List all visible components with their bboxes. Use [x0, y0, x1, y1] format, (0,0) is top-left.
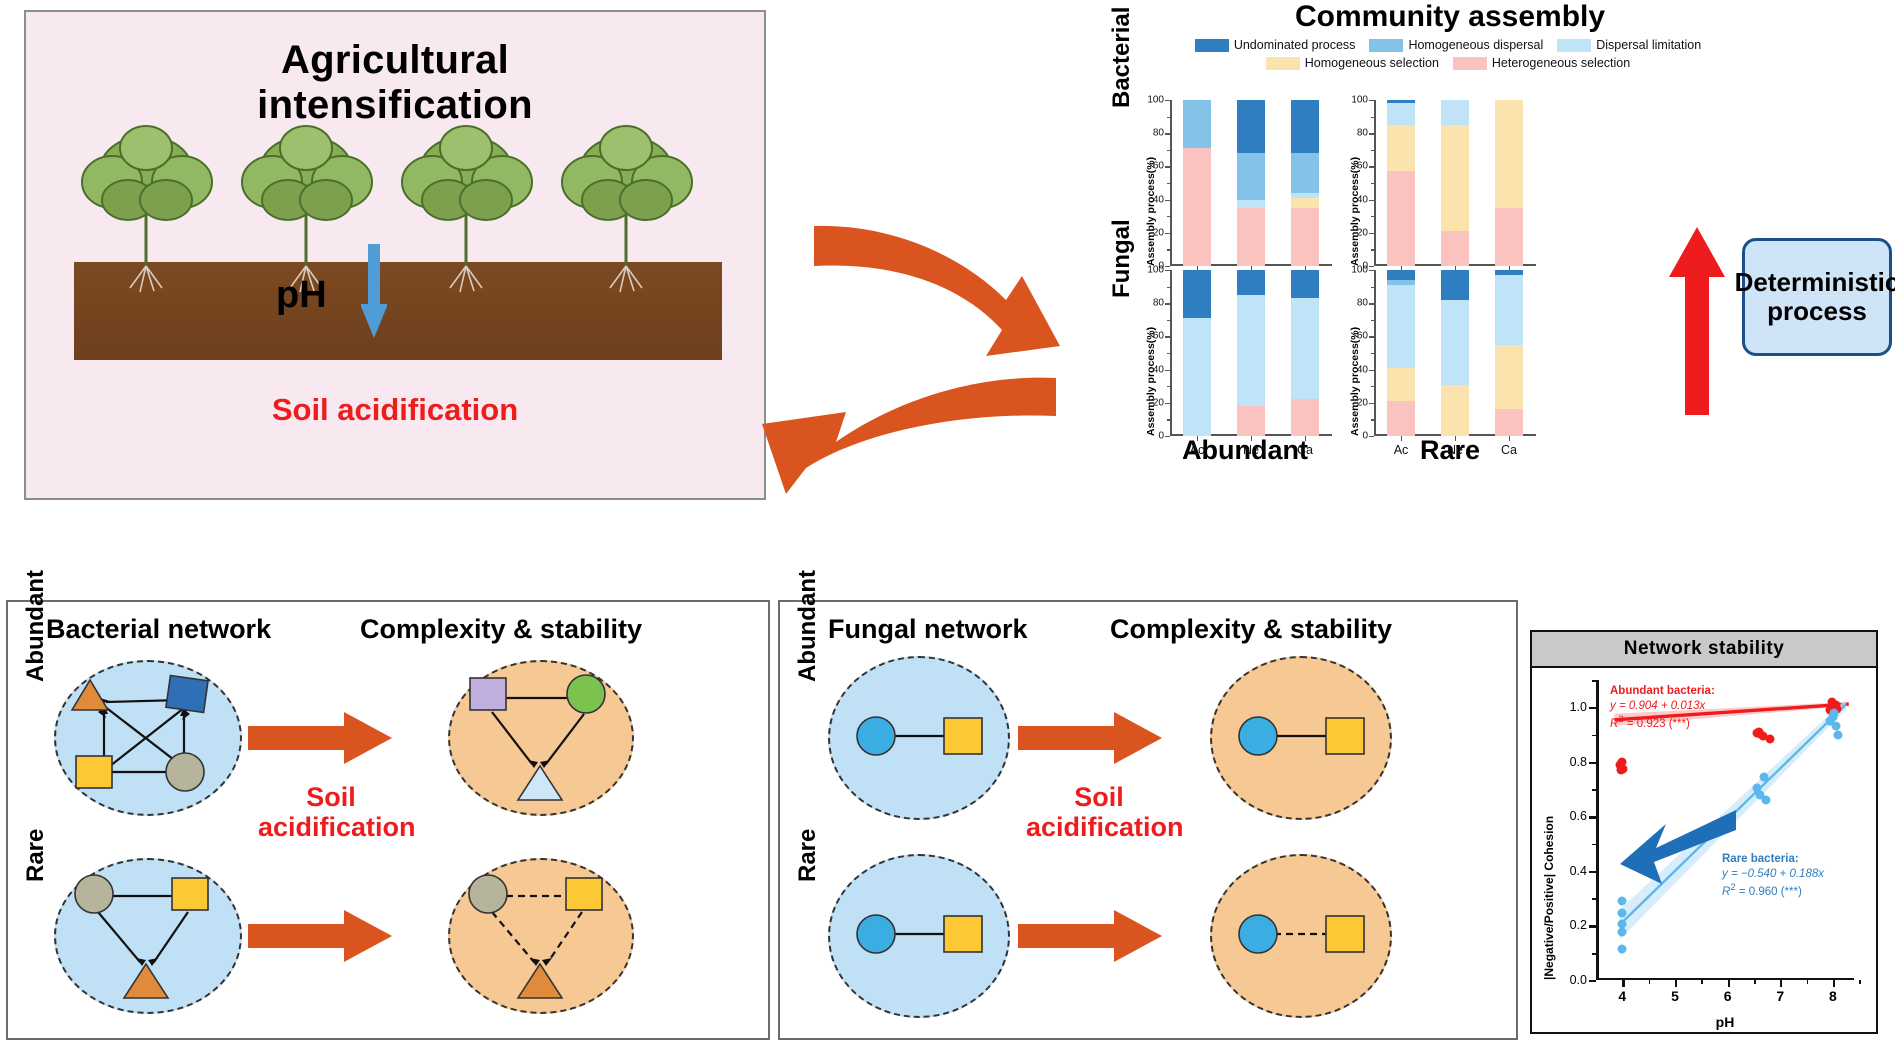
bar-segment	[1183, 270, 1211, 318]
scatter-plot-area: Abundant bacteria: y = 0.904 + 0.013x R2…	[1596, 680, 1854, 980]
y-minor-tick	[1167, 249, 1170, 250]
legend-label-homogeneous-selection: Homogeneous selection	[1305, 56, 1439, 70]
y-tick	[1589, 816, 1596, 818]
stacked-bar	[1495, 270, 1523, 436]
fungal-acid-line1: Soil	[1074, 782, 1124, 812]
stacked-bar	[1441, 270, 1469, 436]
stacked-bar	[1237, 270, 1265, 436]
bar-segment	[1495, 100, 1523, 208]
y-tick	[1589, 980, 1596, 982]
fungal-center-acidification-label: Soil acidification	[1026, 782, 1172, 842]
fungal-rare-source-graph	[828, 854, 1010, 1018]
legend-item-homogeneous-dispersal: Homogeneous dispersal	[1369, 38, 1543, 52]
blue-trend-arrow-icon	[1618, 808, 1738, 886]
legend-label-heterogeneous-selection: Heterogeneous selection	[1492, 56, 1630, 70]
x-tick-label: Ac	[1190, 443, 1205, 457]
fungal-network-panel: Fungal network Complexity & stability Ab…	[778, 600, 1518, 1040]
scatter-y-axis-title: |Negative/Positive| Cohesion	[1542, 816, 1556, 980]
y-tick	[1369, 100, 1374, 101]
chart-fungal-rare: Assembly process(%)020406080100AcNeCa	[1340, 262, 1540, 462]
legend-item-heterogeneous-selection: Heterogeneous selection	[1453, 56, 1630, 70]
bar-segment	[1495, 275, 1523, 345]
y-tick-label: 40	[1153, 194, 1164, 205]
x-tick	[1675, 980, 1677, 987]
bar-segment	[1237, 406, 1265, 436]
red-up-arrow-icon	[1665, 225, 1729, 415]
y-tick-label: 60	[1357, 161, 1368, 172]
y-tick	[1165, 166, 1170, 167]
bar-segment	[1441, 125, 1469, 231]
x-tick-label: 6	[1724, 988, 1732, 1004]
y-tick	[1165, 436, 1170, 437]
y-minor-tick	[1592, 789, 1596, 791]
bar-segment	[1387, 103, 1415, 125]
y-tick-label: 100	[1147, 265, 1164, 276]
x-tick-label: 4	[1618, 988, 1626, 1004]
y-tick	[1369, 233, 1374, 234]
x-tick	[1509, 436, 1510, 441]
y-minor-tick	[1371, 117, 1374, 118]
y-tick-label: 40	[1357, 194, 1368, 205]
y-minor-tick	[1371, 216, 1374, 217]
scatter-x-axis-title: pH	[1596, 1014, 1854, 1030]
scatter-point	[1618, 896, 1627, 905]
bar-segment	[1441, 231, 1469, 266]
y-tick	[1165, 133, 1170, 134]
y-tick	[1165, 303, 1170, 304]
deterministic-process-label: Deterministic process	[1735, 268, 1895, 326]
y-minor-tick	[1167, 150, 1170, 151]
network-stability-panel: Network stability |Negative/Positive| Co…	[1530, 630, 1878, 1034]
stacked-bar	[1495, 100, 1523, 266]
y-axis	[1374, 270, 1376, 436]
scatter-point	[1834, 730, 1843, 739]
x-tick-label: Ca	[1501, 443, 1517, 457]
bar-segment	[1387, 368, 1415, 401]
legend-row-2: Homogeneous selection Heterogeneous sele…	[1118, 56, 1778, 70]
bar-segment	[1291, 298, 1319, 399]
ph-label: pH	[276, 274, 327, 317]
x-tick	[1305, 436, 1306, 441]
bacterial-rare-result-graph	[448, 858, 634, 1014]
bar-segment	[1237, 270, 1265, 295]
bar-segment	[1291, 198, 1319, 208]
bacterial-center-acidification-label: Soil acidification	[258, 782, 404, 842]
bar-segment	[1495, 409, 1523, 436]
bar-segment	[1441, 100, 1469, 125]
bacterial-rare-source-graph	[54, 858, 242, 1014]
y-axis-title: Assembly process(%)	[1349, 157, 1361, 266]
x-tick-label: Ne	[1447, 443, 1463, 457]
x-tick-label: Ac	[1394, 443, 1409, 457]
y-minor-tick	[1371, 419, 1374, 420]
x-tick	[1780, 980, 1782, 987]
bar-segment	[1495, 270, 1523, 275]
x-tick	[1833, 980, 1835, 987]
abundant-annotation-r2: R2 = 0.923 (***)	[1610, 718, 1690, 730]
bar-segment	[1441, 270, 1469, 300]
y-tick-label: 80	[1153, 128, 1164, 139]
y-tick	[1589, 871, 1596, 873]
fungal-abundant-result-graph	[1210, 656, 1392, 820]
bacterial-complexity-heading: Complexity & stability	[360, 614, 642, 645]
bar-segment	[1183, 148, 1211, 266]
y-minor-tick	[1167, 117, 1170, 118]
legend-swatch-undominated	[1195, 39, 1229, 52]
y-minor-tick	[1371, 353, 1374, 354]
bacterial-abundant-transform-arrow	[248, 710, 394, 766]
y-tick	[1589, 925, 1596, 927]
y-axis-title: Assembly process(%)	[1145, 157, 1157, 266]
y-minor-tick	[1167, 183, 1170, 184]
legend-row-1: Undominated process Homogeneous dispersa…	[1118, 38, 1778, 52]
y-tick	[1369, 166, 1374, 167]
plot-area: 020406080100AcNeCa	[1374, 270, 1536, 436]
community-assembly-title: Community assembly	[1130, 0, 1770, 34]
deterministic-process-box: Deterministic process	[1742, 238, 1892, 356]
bar-segment	[1441, 300, 1469, 385]
y-tick	[1165, 200, 1170, 201]
bar-segment	[1291, 399, 1319, 436]
bacterial-acid-line2: acidification	[258, 812, 416, 842]
y-tick	[1165, 403, 1170, 404]
bar-segment	[1495, 345, 1523, 410]
chart-fungal-abundant: Assembly process(%)020406080100AcNeCa	[1136, 262, 1336, 462]
x-minor-tick	[1859, 980, 1861, 984]
y-axis	[1374, 100, 1376, 266]
y-tick-label: 80	[1153, 298, 1164, 309]
bacterial-network-heading: Bacterial network	[46, 614, 271, 645]
bar-segment	[1237, 100, 1265, 153]
y-tick	[1165, 100, 1170, 101]
legend-label-undominated: Undominated process	[1234, 38, 1356, 52]
row-label-fungal: Fungal	[1108, 219, 1136, 298]
y-tick	[1165, 270, 1170, 271]
legend-swatch-homogeneous-selection	[1266, 57, 1300, 70]
x-tick	[1728, 980, 1730, 987]
x-tick-label: 8	[1829, 988, 1837, 1004]
y-tick	[1369, 200, 1374, 201]
bacterial-rare-transform-arrow	[248, 908, 394, 964]
x-tick	[1251, 436, 1252, 441]
fungal-acid-line2: acidification	[1026, 812, 1184, 842]
y-tick	[1369, 133, 1374, 134]
x-minor-tick	[1649, 980, 1651, 984]
bacterial-acid-line1: Soil	[306, 782, 356, 812]
bar-segment	[1237, 295, 1265, 406]
y-tick-label: 0.6	[1570, 809, 1587, 823]
y-tick	[1165, 233, 1170, 234]
bar-segment	[1387, 280, 1415, 285]
bacterial-network-panel: Bacterial network Complexity & stability…	[6, 600, 770, 1040]
y-minor-tick	[1167, 216, 1170, 217]
legend-swatch-heterogeneous-selection	[1453, 57, 1487, 70]
bar-segment	[1291, 270, 1319, 298]
y-tick-label: 100	[1351, 95, 1368, 106]
scatter-point	[1765, 734, 1774, 743]
y-minor-tick	[1167, 419, 1170, 420]
y-tick-label: 60	[1153, 331, 1164, 342]
fungal-abundant-transform-arrow	[1018, 710, 1164, 766]
bar-segment	[1291, 193, 1319, 198]
y-tick-label: 100	[1351, 265, 1368, 276]
lettuce-plants	[66, 108, 736, 358]
y-tick-label: 80	[1357, 128, 1368, 139]
y-tick-label: 20	[1357, 227, 1368, 238]
scatter-point	[1618, 944, 1627, 953]
bar-segment	[1387, 285, 1415, 368]
x-tick-label: Ne	[1243, 443, 1259, 457]
y-minor-tick	[1371, 249, 1374, 250]
scatter-point	[1618, 757, 1627, 766]
y-tick-label: 0.8	[1570, 755, 1587, 769]
stacked-bar	[1387, 100, 1415, 266]
plot-area: 020406080100AcNeCa	[1374, 100, 1536, 266]
bar-segment	[1387, 401, 1415, 436]
legend-swatch-dispersal-limitation	[1557, 39, 1591, 52]
abundant-bacteria-annotation: Abundant bacteria: y = 0.904 + 0.013x R2…	[1610, 684, 1715, 733]
x-minor-tick	[1807, 980, 1809, 984]
x-tick	[1197, 436, 1198, 441]
fungal-network-heading: Fungal network	[828, 614, 1028, 645]
bar-segment	[1291, 208, 1319, 266]
bar-segment	[1387, 100, 1415, 103]
x-tick-label: Ca	[1297, 443, 1313, 457]
legend-item-dispersal-limitation: Dispersal limitation	[1557, 38, 1701, 52]
rare-annotation-r2: R2 = 0.960 (***)	[1722, 886, 1802, 898]
y-tick-label: 60	[1153, 161, 1164, 172]
stacked-bar	[1441, 100, 1469, 266]
fungal-abundant-source-graph	[828, 656, 1010, 820]
x-tick-label: 5	[1671, 988, 1679, 1004]
y-tick-label: 1.0	[1570, 700, 1587, 714]
y-axis	[1170, 270, 1172, 436]
y-minor-tick	[1592, 953, 1596, 955]
stacked-bar	[1387, 270, 1415, 436]
y-minor-tick	[1592, 844, 1596, 846]
bacterial-row-rare: Rare	[22, 829, 50, 882]
abundant-annotation-equation: y = 0.904 + 0.013x	[1610, 700, 1705, 712]
y-axis	[1170, 100, 1172, 266]
plot-area: 020406080100AcNeCa	[1170, 270, 1332, 436]
scatter-point	[1829, 708, 1838, 717]
stacked-bar	[1237, 100, 1265, 266]
bacterial-abundant-result-graph	[448, 660, 634, 816]
y-tick	[1369, 370, 1374, 371]
plot-area: 020406080100AcNeCa	[1170, 100, 1332, 266]
y-tick-label: 80	[1357, 298, 1368, 309]
y-minor-tick	[1371, 287, 1374, 288]
bar-segment	[1237, 153, 1265, 199]
bar-segment	[1495, 208, 1523, 266]
stacked-bar	[1183, 100, 1211, 266]
fungal-rare-result-graph	[1210, 854, 1392, 1018]
y-tick-label: 0	[1158, 431, 1164, 442]
y-tick	[1369, 436, 1374, 437]
bar-segment	[1183, 318, 1211, 436]
y-tick	[1369, 303, 1374, 304]
y-minor-tick	[1592, 898, 1596, 900]
y-minor-tick	[1167, 353, 1170, 354]
scatter-point	[1761, 796, 1770, 805]
y-tick	[1165, 336, 1170, 337]
bacterial-row-abundant: Abundant	[22, 570, 50, 682]
y-axis-title: Assembly process(%)	[1349, 327, 1361, 436]
y-tick-label: 20	[1357, 397, 1368, 408]
bar-segment	[1291, 100, 1319, 153]
y-tick-label: 0.4	[1570, 864, 1587, 878]
network-stability-title: Network stability	[1532, 632, 1876, 668]
bacterial-abundant-source-graph	[54, 660, 242, 816]
stacked-bar	[1291, 100, 1319, 266]
y-tick-label: 60	[1357, 331, 1368, 342]
y-tick-label: 20	[1153, 227, 1164, 238]
y-minor-tick	[1371, 320, 1374, 321]
scatter-point	[1618, 928, 1627, 937]
bar-segment	[1291, 153, 1319, 193]
legend-item-homogeneous-selection: Homogeneous selection	[1266, 56, 1439, 70]
x-tick	[1455, 436, 1456, 441]
y-tick-label: 0.2	[1570, 918, 1587, 932]
y-tick	[1589, 707, 1596, 709]
y-tick	[1369, 270, 1374, 271]
y-tick-label: 0	[1362, 431, 1368, 442]
row-label-bacterial: Bacterial	[1108, 7, 1136, 108]
y-minor-tick	[1167, 386, 1170, 387]
legend-item-undominated: Undominated process	[1195, 38, 1356, 52]
y-tick-label: 100	[1147, 95, 1164, 106]
bar-segment	[1183, 100, 1211, 148]
y-minor-tick	[1592, 680, 1596, 682]
bar-segment	[1387, 125, 1415, 171]
stacked-bar	[1183, 270, 1211, 436]
y-tick	[1369, 336, 1374, 337]
bar-segment	[1237, 200, 1265, 208]
assembly-legend: Undominated process Homogeneous dispersa…	[1118, 38, 1778, 74]
y-tick	[1165, 370, 1170, 371]
y-axis-title: Assembly process(%)	[1145, 327, 1157, 436]
y-minor-tick	[1371, 386, 1374, 387]
y-minor-tick	[1371, 183, 1374, 184]
y-tick-label: 40	[1153, 364, 1164, 375]
y-tick-label: 20	[1153, 397, 1164, 408]
fungal-row-abundant: Abundant	[794, 570, 822, 682]
y-minor-tick	[1371, 150, 1374, 151]
y-tick	[1369, 403, 1374, 404]
arrow-to-networks	[640, 368, 1060, 508]
fungal-rare-transform-arrow	[1018, 908, 1164, 964]
agri-title-line1: Agricultural	[281, 38, 509, 82]
bar-segment	[1387, 171, 1415, 266]
scatter-point	[1760, 772, 1769, 781]
y-tick-label: 0.0	[1570, 973, 1587, 987]
legend-swatch-homogeneous-dispersal	[1369, 39, 1403, 52]
abundant-annotation-title: Abundant bacteria	[1610, 685, 1711, 697]
x-tick-label: 7	[1776, 988, 1784, 1004]
x-tick	[1622, 980, 1624, 987]
x-tick	[1401, 436, 1402, 441]
fungal-complexity-heading: Complexity & stability	[1110, 614, 1392, 645]
y-minor-tick	[1167, 287, 1170, 288]
y-tick	[1589, 762, 1596, 764]
bar-segment	[1441, 385, 1469, 436]
bar-segment	[1387, 270, 1415, 280]
x-minor-tick	[1754, 980, 1756, 984]
stacked-bar	[1291, 270, 1319, 436]
legend-label-homogeneous-dispersal: Homogeneous dispersal	[1408, 38, 1543, 52]
x-minor-tick	[1701, 980, 1703, 984]
y-tick-label: 40	[1357, 364, 1368, 375]
arrow-to-community-assembly	[810, 218, 1110, 378]
ph-down-arrow-icon	[361, 244, 387, 340]
scatter-point	[1618, 909, 1627, 918]
fungal-row-rare: Rare	[794, 829, 822, 882]
y-minor-tick	[1167, 320, 1170, 321]
bar-segment	[1237, 208, 1265, 266]
y-minor-tick	[1592, 735, 1596, 737]
scatter-point	[1755, 727, 1764, 736]
legend-label-dispersal-limitation: Dispersal limitation	[1596, 38, 1701, 52]
